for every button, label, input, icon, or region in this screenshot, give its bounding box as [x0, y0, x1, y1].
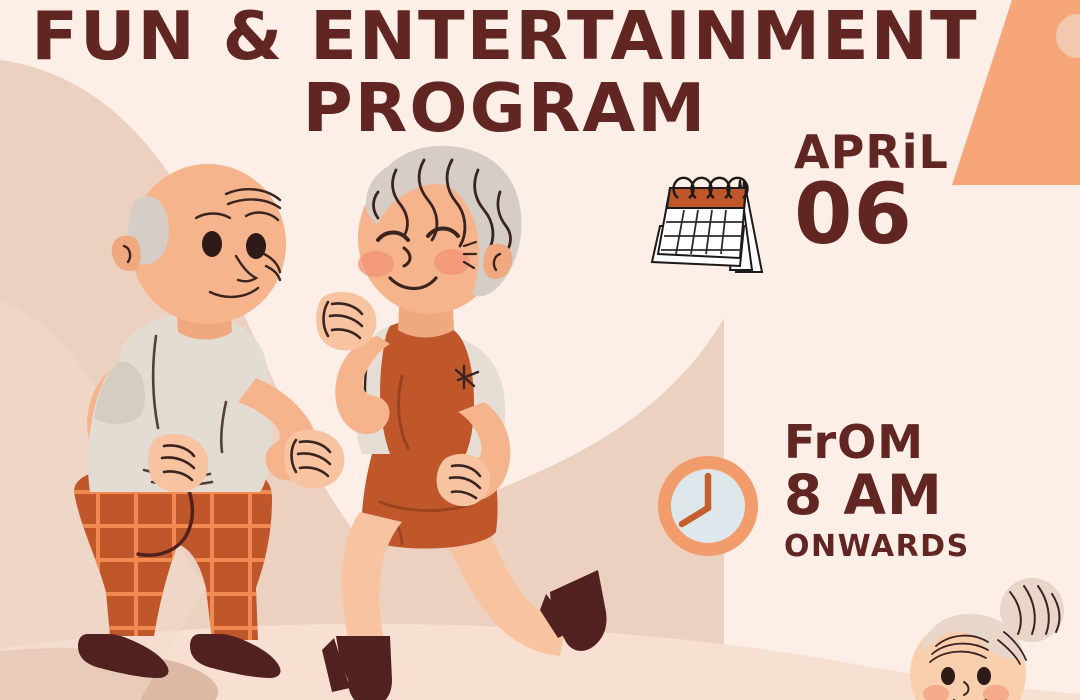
woman-boot-front: [336, 636, 392, 700]
woman-dress-top: [374, 320, 474, 458]
corner-lady-eye-right: [977, 667, 991, 685]
woman-back-fist: [437, 454, 491, 506]
man-front-fist: [284, 430, 344, 489]
time-value: 8 AM: [784, 470, 970, 521]
man-ear: [112, 236, 141, 271]
woman-cheek-left: [358, 251, 394, 277]
elderly-woman-jogging: [316, 146, 606, 700]
woman-front-fist: [316, 292, 376, 351]
elderly-man-jogging: [60, 164, 344, 678]
event-date-text: APRiL 06: [794, 130, 949, 253]
time-note: ONWARDS: [784, 529, 970, 564]
clock-icon: [654, 452, 762, 560]
jogging-seniors-illustration: [60, 140, 660, 700]
man-eye-left: [202, 231, 222, 257]
woman-front-leg: [342, 512, 402, 654]
calendar-header-band: [667, 188, 746, 208]
man-tshirt-sleeve: [94, 362, 145, 425]
event-time-row: FrOM 8 AM ONWARDS: [654, 420, 970, 564]
poster-canvas: FUN & ENTERTAINMENT PROGRAM: [0, 0, 1080, 700]
man-shoe-front: [190, 634, 281, 678]
corner-lady-eye-left: [941, 667, 955, 685]
event-details: APRiL 06 FrOM 8 AM ONWARDS: [640, 130, 1040, 600]
event-time-text: FrOM 8 AM ONWARDS: [784, 420, 970, 564]
time-kicker: FrOM: [784, 420, 970, 464]
date-value: 06: [794, 176, 949, 253]
event-date-row: APRiL 06: [640, 130, 949, 276]
man-eye-right: [246, 233, 266, 259]
man-shoe-back: [78, 634, 169, 678]
calendar-icon: [640, 166, 772, 276]
